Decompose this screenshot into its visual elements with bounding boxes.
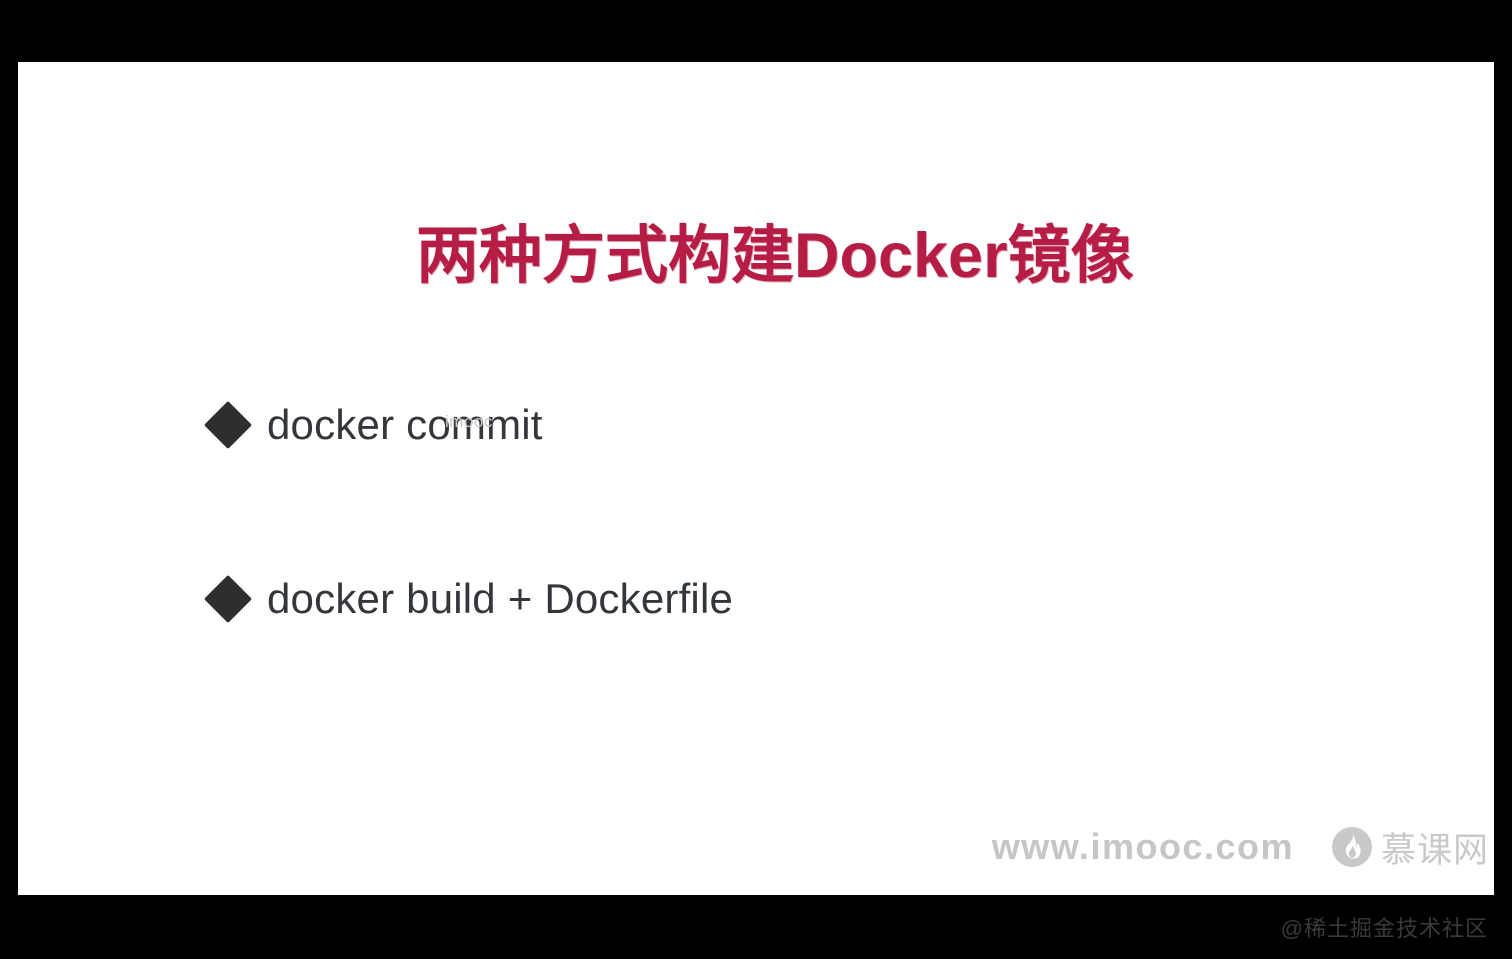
flame-icon: [1332, 827, 1372, 867]
community-watermark: @稀土掘金技术社区: [1281, 911, 1488, 943]
diamond-bullet-icon: [204, 575, 252, 623]
brand-logo-label: 慕课网: [1381, 822, 1489, 873]
diamond-bullet-icon: [204, 401, 252, 449]
bullet-item-label: docker build + Dockerfile: [267, 575, 733, 623]
presentation-slide: 两种方式构建Docker镜像 docker commit docker buil…: [18, 62, 1494, 895]
slide-title: 两种方式构建Docker镜像: [416, 220, 1134, 292]
brand-url-label: www.imooc.com: [992, 826, 1294, 868]
list-item: docker build + Dockerfile: [211, 566, 1311, 632]
imooc-center-watermark: imooc: [445, 412, 493, 432]
brand-strip: www.imooc.com 慕课网: [18, 817, 1494, 877]
bullet-list: docker commit docker build + Dockerfile: [211, 392, 1311, 632]
brand-logo: 慕课网: [1332, 822, 1489, 873]
list-item: docker commit: [211, 392, 1311, 458]
video-letterbox-frame: 两种方式构建Docker镜像 docker commit docker buil…: [0, 0, 1512, 959]
bullet-item-label: docker commit: [267, 401, 543, 449]
